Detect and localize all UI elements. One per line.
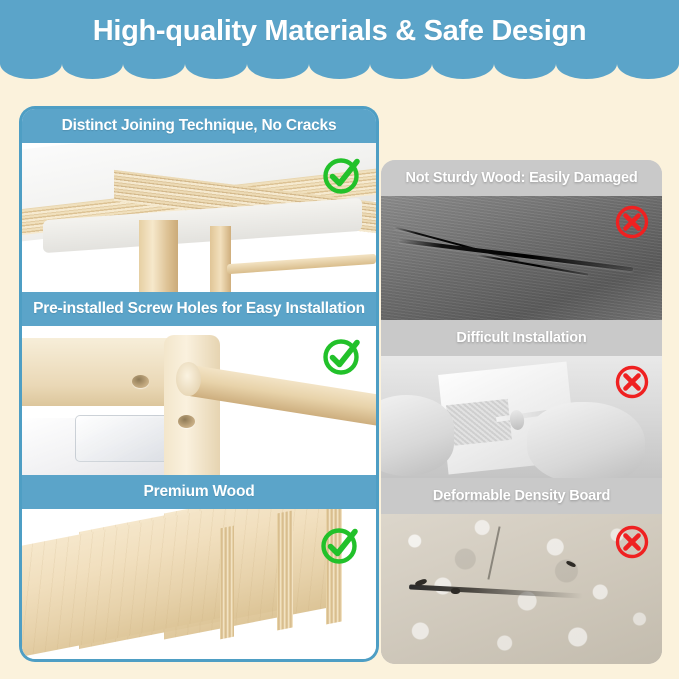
header-banner: High-quality Materials & Safe Design [0, 0, 679, 62]
bad-panel-density-board: Deformable Density Board [381, 478, 662, 664]
scallop-shape [370, 62, 432, 79]
bad-panel-caption-1: Not Sturdy Wood: Easily Damaged [381, 160, 662, 196]
scallop-shape [556, 62, 618, 79]
scallop-shape [617, 62, 679, 79]
bad-features-column: Not Sturdy Wood: Easily Damaged Difficul… [381, 160, 662, 664]
scallop-shape [62, 62, 124, 79]
plywood-board-front-edge [220, 526, 234, 640]
scallop-shape [432, 62, 494, 79]
good-panel-screw-holes: Pre-installed Screw Holes for Easy Insta… [19, 292, 379, 475]
good-panel-premium-wood: Premium Wood [19, 475, 379, 662]
check-circle-icon [318, 523, 362, 567]
right-hand [527, 402, 645, 478]
dowel-end-cap [176, 362, 201, 396]
bad-panel-image-3 [381, 514, 662, 664]
bad-panel-difficult-installation: Difficult Installation [381, 320, 662, 478]
good-panel-joining: Distinct Joining Technique, No Cracks [19, 106, 379, 292]
table-rail [227, 254, 376, 275]
scallop-shape [0, 62, 62, 79]
scallop-shape [247, 62, 309, 79]
bad-panel-image-1 [381, 196, 662, 320]
bad-panel-caption-3: Deformable Density Board [381, 478, 662, 514]
page-title: High-quality Materials & Safe Design [0, 0, 679, 62]
bad-panel-caption-2: Difficult Installation [381, 320, 662, 356]
bad-panel-not-sturdy: Not Sturdy Wood: Easily Damaged [381, 160, 662, 320]
scallop-shape [185, 62, 247, 79]
left-hand [381, 395, 454, 476]
table-leg-back [210, 226, 231, 292]
check-circle-icon [320, 153, 364, 197]
x-circle-icon [614, 364, 650, 400]
density-board-chip-2 [451, 588, 460, 594]
board-rough-patch [446, 399, 512, 447]
table-leg-front [139, 220, 178, 292]
good-panel-caption-2: Pre-installed Screw Holes for Easy Insta… [22, 292, 376, 326]
check-circle-icon [320, 334, 364, 378]
x-circle-icon [614, 524, 650, 560]
screw-hole-upper [132, 375, 149, 388]
good-panel-caption-1: Distinct Joining Technique, No Cracks [22, 109, 376, 143]
scallop-shape [123, 62, 185, 79]
bad-panel-image-2 [381, 356, 662, 478]
plywood-board-middle-edge [277, 510, 293, 630]
frame-corner-post [164, 335, 221, 475]
scallop-divider [0, 62, 679, 96]
plastic-bag [75, 415, 169, 462]
good-panel-image-1 [22, 143, 376, 292]
x-circle-icon [614, 204, 650, 240]
good-panel-caption-3: Premium Wood [22, 475, 376, 509]
good-panel-image-2 [22, 326, 376, 475]
good-features-column: Distinct Joining Technique, No Cracks [19, 106, 379, 662]
scallop-shape [494, 62, 556, 79]
good-panel-image-3 [22, 509, 376, 659]
plywood-board-front [22, 509, 227, 659]
scallop-shape [309, 62, 371, 79]
infographic-root: High-quality Materials & Safe Design Dis… [0, 0, 679, 679]
